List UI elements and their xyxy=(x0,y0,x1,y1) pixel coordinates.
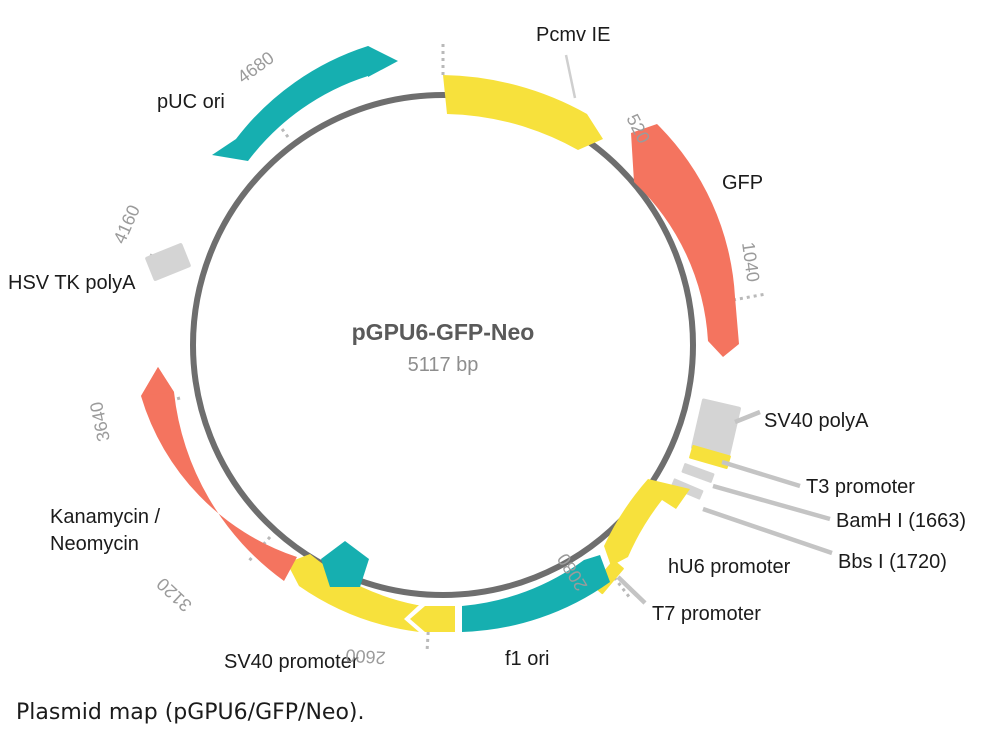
label-hu6-promoter: hU6 promoter xyxy=(668,556,791,578)
tick-label-3640: 3640 xyxy=(86,400,114,443)
feature-puc-ori-body xyxy=(212,46,395,161)
feature-hsv-tk-polya[interactable] xyxy=(145,242,192,281)
label-puc-ori: pUC ori xyxy=(157,91,225,113)
feature-hu6-promoter[interactable] xyxy=(604,479,690,566)
feature-pcmv-ie-body xyxy=(443,75,603,150)
tick-mark-1040 xyxy=(733,294,766,300)
feature-pcmv-ie[interactable] xyxy=(443,55,603,150)
plasmid-center-size: 5117 bp xyxy=(408,354,479,376)
label-pcmv-ie: Pcmv IE xyxy=(536,24,610,46)
label-hsv-tk-polya: HSV TK polyA xyxy=(8,272,136,294)
figure-caption: Plasmid map (pGPU6/GFP/Neo). xyxy=(16,700,364,725)
feature-gfp[interactable] xyxy=(631,124,739,357)
plasmid-center-title: pGPU6-GFP-Neo xyxy=(352,319,535,345)
label-bbsi: Bbs I (1720) xyxy=(838,551,947,573)
feature-kanamycin-neomycin[interactable] xyxy=(141,367,297,581)
tick-label-4680: 4680 xyxy=(234,48,278,88)
feature-kanamycin-neomycin-body xyxy=(141,367,297,581)
label-kanamycin-line1: Kanamycin / xyxy=(50,506,160,528)
feature-gfp-body xyxy=(631,124,739,357)
tick-label-3120: 3120 xyxy=(153,574,196,616)
feature-bamhi-site-body xyxy=(681,463,714,483)
label-sv40-promoter: SV40 promoter xyxy=(224,651,359,673)
label-sv40-polya: SV40 polyA xyxy=(764,410,869,432)
leader-t3-promoter xyxy=(722,462,800,486)
tick-label-1040: 1040 xyxy=(738,241,763,283)
feature-hu6-promoter-body xyxy=(604,479,690,566)
feature-small-yellow-arrow-body xyxy=(410,606,455,632)
label-bamhi: BamH I (1663) xyxy=(836,510,966,532)
plasmid-map-figure: Pcmv IE GFP SV40 polyA T3 promoter BamH … xyxy=(0,0,982,744)
feature-kanamycin-arrowhead xyxy=(141,367,174,396)
label-f1-ori: f1 ori xyxy=(505,648,549,670)
label-t7-promoter: T7 promoter xyxy=(652,603,761,625)
tick-label-4160: 4160 xyxy=(109,202,144,247)
feature-pcmv-ie-divider xyxy=(566,55,575,98)
feature-puc-ori-arrowhead xyxy=(368,46,398,77)
feature-bamhi-site[interactable] xyxy=(681,463,714,483)
feature-hsv-tk-polya-body xyxy=(145,242,192,281)
label-gfp: GFP xyxy=(722,172,763,194)
feature-small-yellow-arrow[interactable] xyxy=(410,606,455,632)
plasmid-map-canvas: Pcmv IE GFP SV40 polyA T3 promoter BamH … xyxy=(0,0,982,744)
label-t3-promoter: T3 promoter xyxy=(806,476,915,498)
pentagon-marker-icon xyxy=(321,541,369,587)
pentagon-marker-shape xyxy=(321,541,369,587)
tick-label-2600: 2600 xyxy=(345,645,386,668)
label-kanamycin-line2: Neomycin xyxy=(50,533,139,555)
